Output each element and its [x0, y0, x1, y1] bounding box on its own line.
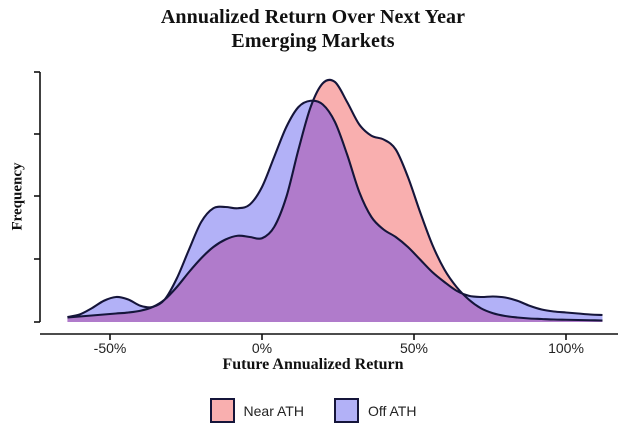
chart-figure: Annualized Return Over Next Year Emergin… — [0, 0, 626, 435]
x-tick-label-50%: 50% — [400, 340, 428, 356]
legend-label-near-ath: Near ATH — [244, 403, 304, 419]
legend-entry-off-ath[interactable]: Off ATH — [334, 398, 417, 423]
legend-swatch-off-ath — [334, 398, 359, 423]
legend-swatch-near-ath — [210, 398, 235, 423]
x-tick-label-0%: 0% — [252, 340, 272, 356]
legend-label-off-ath: Off ATH — [368, 403, 417, 419]
chart-legend: Near ATH Off ATH — [0, 398, 626, 423]
y-axis-title: Frequency — [10, 97, 27, 297]
x-axis-title: Future Annualized Return — [0, 356, 626, 374]
legend-entry-near-ath[interactable]: Near ATH — [210, 398, 304, 423]
x-axis-ticks — [110, 334, 566, 340]
x-tick-label-100%: 100% — [548, 340, 584, 356]
x-tick-label--50%: -50% — [94, 340, 127, 356]
y-axis-ticks — [34, 72, 40, 322]
